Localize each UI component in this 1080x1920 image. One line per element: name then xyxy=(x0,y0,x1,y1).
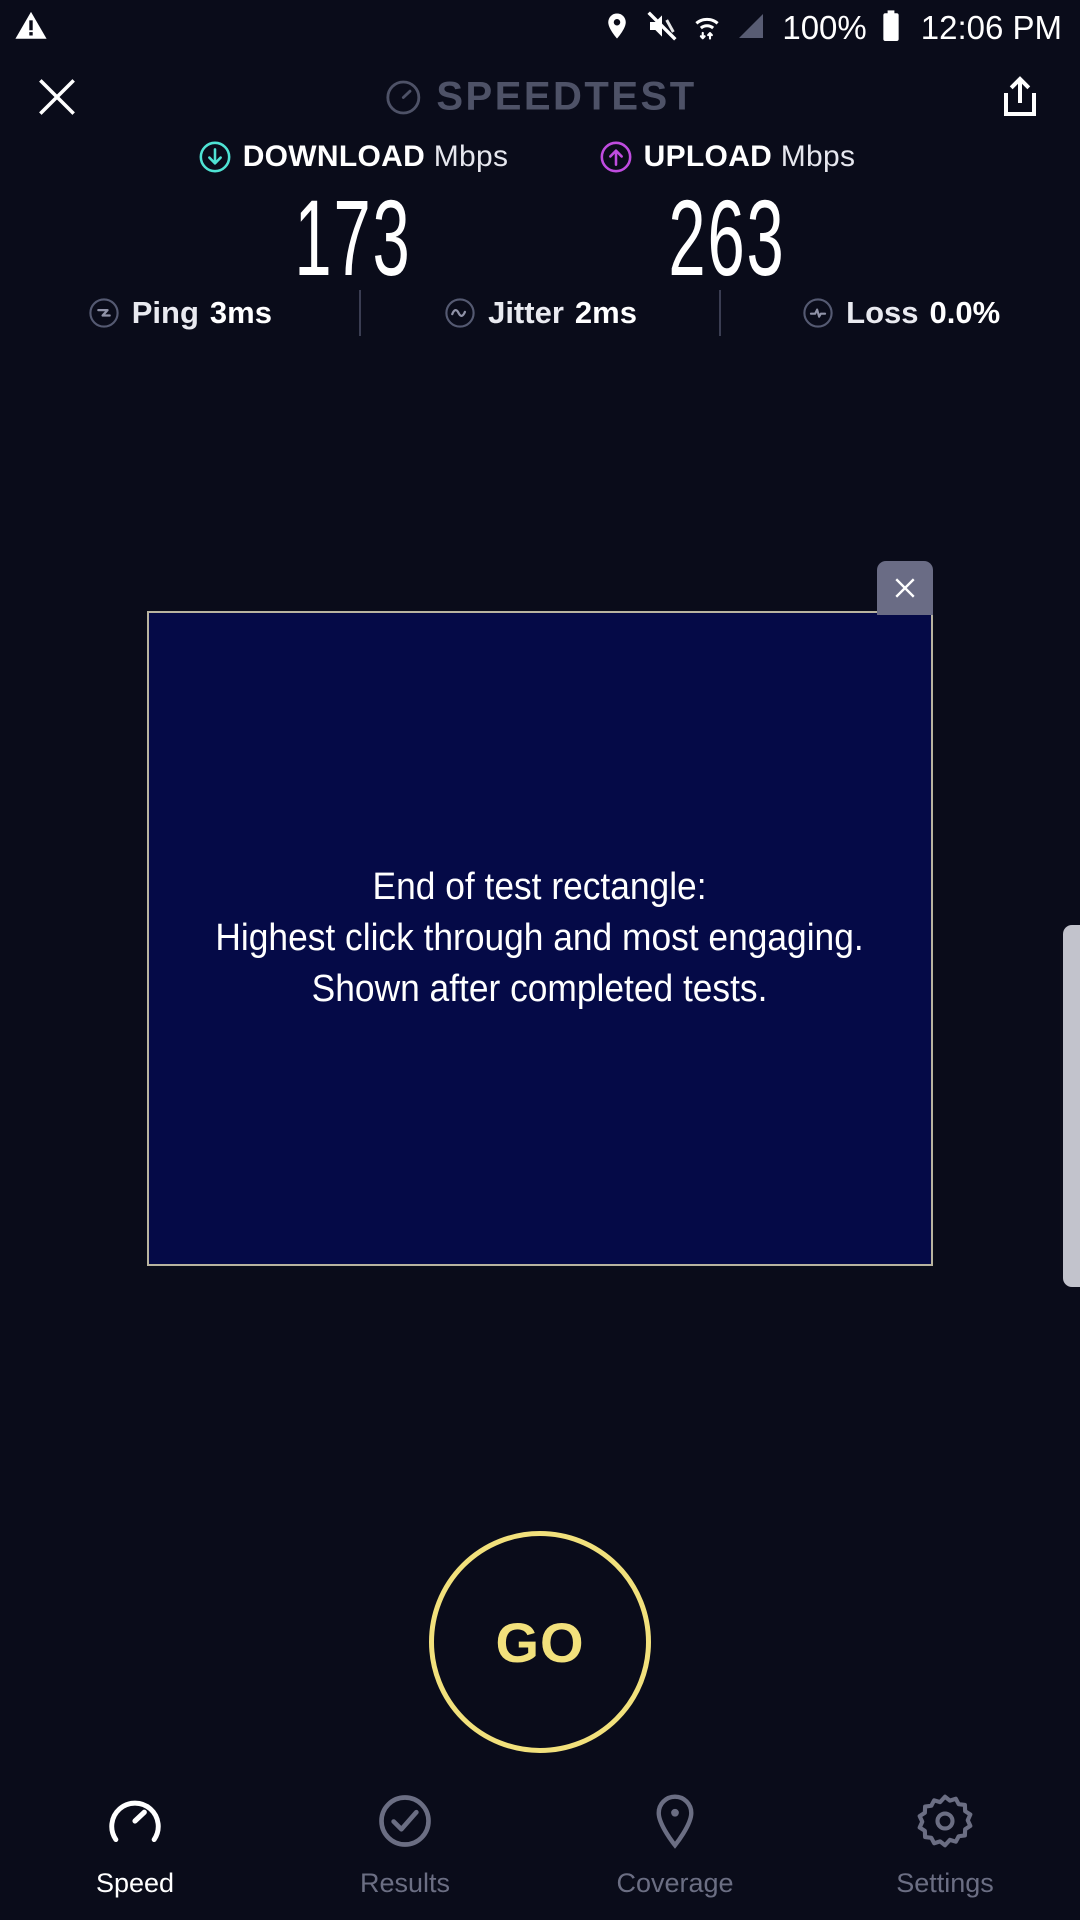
ad-text: End of test rectangle: Highest click thr… xyxy=(216,862,864,1016)
download-header: DOWNLOAD Mbps xyxy=(188,138,518,176)
nav-item-coverage[interactable]: Coverage xyxy=(540,1790,810,1899)
download-value: 173 xyxy=(251,184,456,292)
upload-header: UPLOAD Mbps xyxy=(562,138,892,176)
nav-item-settings[interactable]: Settings xyxy=(810,1790,1080,1899)
speedometer-icon xyxy=(104,1790,166,1852)
ad-banner[interactable]: End of test rectangle: Highest click thr… xyxy=(147,611,933,1266)
ad-line-1: End of test rectangle: xyxy=(216,862,864,913)
loss-label: Loss xyxy=(846,295,918,331)
battery-percent-label: 100% xyxy=(782,9,866,47)
download-upload-row: DOWNLOAD Mbps 173 UPLOAD Mbps 263 xyxy=(0,138,1080,292)
loss-value: 0.0% xyxy=(930,295,1001,331)
speedtest-results: DOWNLOAD Mbps 173 UPLOAD Mbps 263 xyxy=(0,138,1080,292)
download-arrow-circle-icon xyxy=(198,140,232,174)
close-icon xyxy=(32,72,82,122)
ping-value: 3ms xyxy=(210,295,272,331)
connection-metrics-row: Ping 3ms Jitter 2ms Loss 0.0% xyxy=(0,282,1080,344)
advertisement: End of test rectangle: Highest click thr… xyxy=(147,611,933,1266)
nav-item-results[interactable]: Results xyxy=(270,1790,540,1899)
app-header: SPEEDTEST xyxy=(0,56,1080,138)
ad-line-2: Highest click through and most engaging. xyxy=(216,913,864,964)
status-bar: 100% 12:06 PM xyxy=(0,0,1080,56)
warning-triangle-icon xyxy=(14,9,48,48)
ad-close-button[interactable] xyxy=(877,561,933,615)
map-pin-icon xyxy=(644,1790,706,1852)
status-bar-left xyxy=(14,9,48,48)
loss-circle-icon xyxy=(801,296,835,330)
page-title-text: SPEEDTEST xyxy=(436,75,696,120)
wifi-transfer-icon xyxy=(692,10,722,47)
speedometer-icon xyxy=(383,77,423,117)
check-circle-icon xyxy=(374,1790,436,1852)
metric-ping: Ping 3ms xyxy=(0,295,359,331)
nav-label-results: Results xyxy=(360,1868,450,1899)
upload-label: UPLOAD Mbps xyxy=(644,140,856,174)
location-pin-icon xyxy=(602,10,632,47)
ad-close-icon xyxy=(890,573,920,603)
status-bar-clock: 12:06 PM xyxy=(921,9,1062,47)
download-label: DOWNLOAD Mbps xyxy=(243,140,509,174)
nav-item-speed[interactable]: Speed xyxy=(0,1790,270,1899)
upload-arrow-circle-icon xyxy=(599,140,633,174)
nav-label-settings: Settings xyxy=(896,1868,994,1899)
upload-value: 263 xyxy=(625,184,830,292)
metric-jitter: Jitter 2ms xyxy=(361,295,720,331)
download-result: DOWNLOAD Mbps 173 xyxy=(188,138,518,292)
nav-label-speed: Speed xyxy=(96,1868,174,1899)
ad-line-3: Shown after completed tests. xyxy=(216,964,864,1015)
ping-circle-icon xyxy=(87,296,121,330)
cellular-signal-icon xyxy=(735,10,767,47)
metric-loss: Loss 0.0% xyxy=(721,295,1080,331)
page-title: SPEEDTEST xyxy=(383,75,696,120)
jitter-label: Jitter xyxy=(488,295,564,331)
page-scrollbar[interactable] xyxy=(1063,925,1080,1287)
status-bar-right: 100% 12:06 PM xyxy=(602,9,1062,48)
battery-full-icon xyxy=(880,9,902,48)
nav-label-coverage: Coverage xyxy=(616,1868,733,1899)
upload-result: UPLOAD Mbps 263 xyxy=(562,138,892,292)
go-button-label: GO xyxy=(495,1610,584,1675)
volume-muted-icon xyxy=(645,10,679,47)
jitter-circle-icon xyxy=(443,296,477,330)
bottom-navigation: Speed Results Coverage Settings xyxy=(0,1772,1080,1920)
share-button[interactable] xyxy=(992,69,1048,125)
jitter-value: 2ms xyxy=(575,295,637,331)
close-button[interactable] xyxy=(28,68,86,126)
gear-icon xyxy=(914,1790,976,1852)
go-button[interactable]: GO xyxy=(429,1531,651,1753)
ping-label: Ping xyxy=(132,295,199,331)
share-upload-icon xyxy=(996,73,1044,121)
